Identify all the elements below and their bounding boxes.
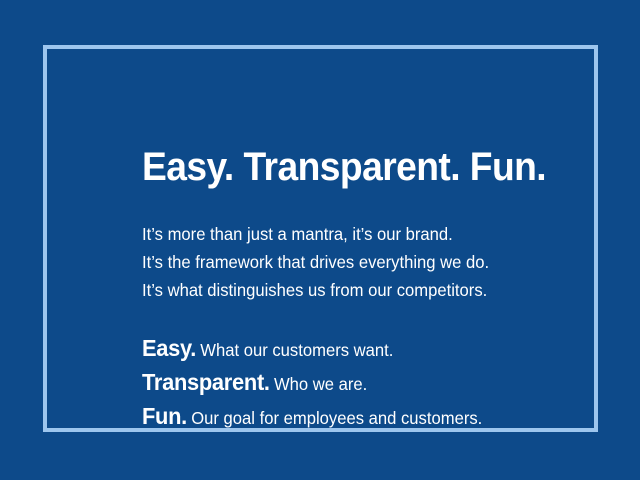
value-term: Fun. <box>142 403 187 429</box>
list-item: Easy. What our customers want. <box>142 333 589 367</box>
paragraph-line: It’s more than just a mantra, it’s our b… <box>142 220 589 248</box>
value-term: Transparent. <box>142 369 270 395</box>
paragraph-line: It’s what distinguishes us from our comp… <box>142 276 589 304</box>
paragraph-line: It’s the framework that drives everythin… <box>142 248 589 276</box>
slide-content: Easy. Transparent. Fun. It’s more than j… <box>142 145 612 435</box>
page-title: Easy. Transparent. Fun. <box>142 145 579 189</box>
list-item: Transparent. Who we are. <box>142 367 589 401</box>
list-item: Fun. Our goal for employees and customer… <box>142 401 589 435</box>
value-description: What our customers want. <box>200 340 393 360</box>
intro-paragraph: It’s more than just a mantra, it’s our b… <box>142 189 612 304</box>
slide-border-frame: Easy. Transparent. Fun. It’s more than j… <box>43 45 598 432</box>
value-description: Our goal for employees and customers. <box>191 408 482 428</box>
value-term: Easy. <box>142 335 196 361</box>
value-description: Who we are. <box>274 374 367 394</box>
value-list: Easy. What our customers want. Transpare… <box>142 304 612 435</box>
slide-canvas: Easy. Transparent. Fun. It’s more than j… <box>0 0 640 480</box>
